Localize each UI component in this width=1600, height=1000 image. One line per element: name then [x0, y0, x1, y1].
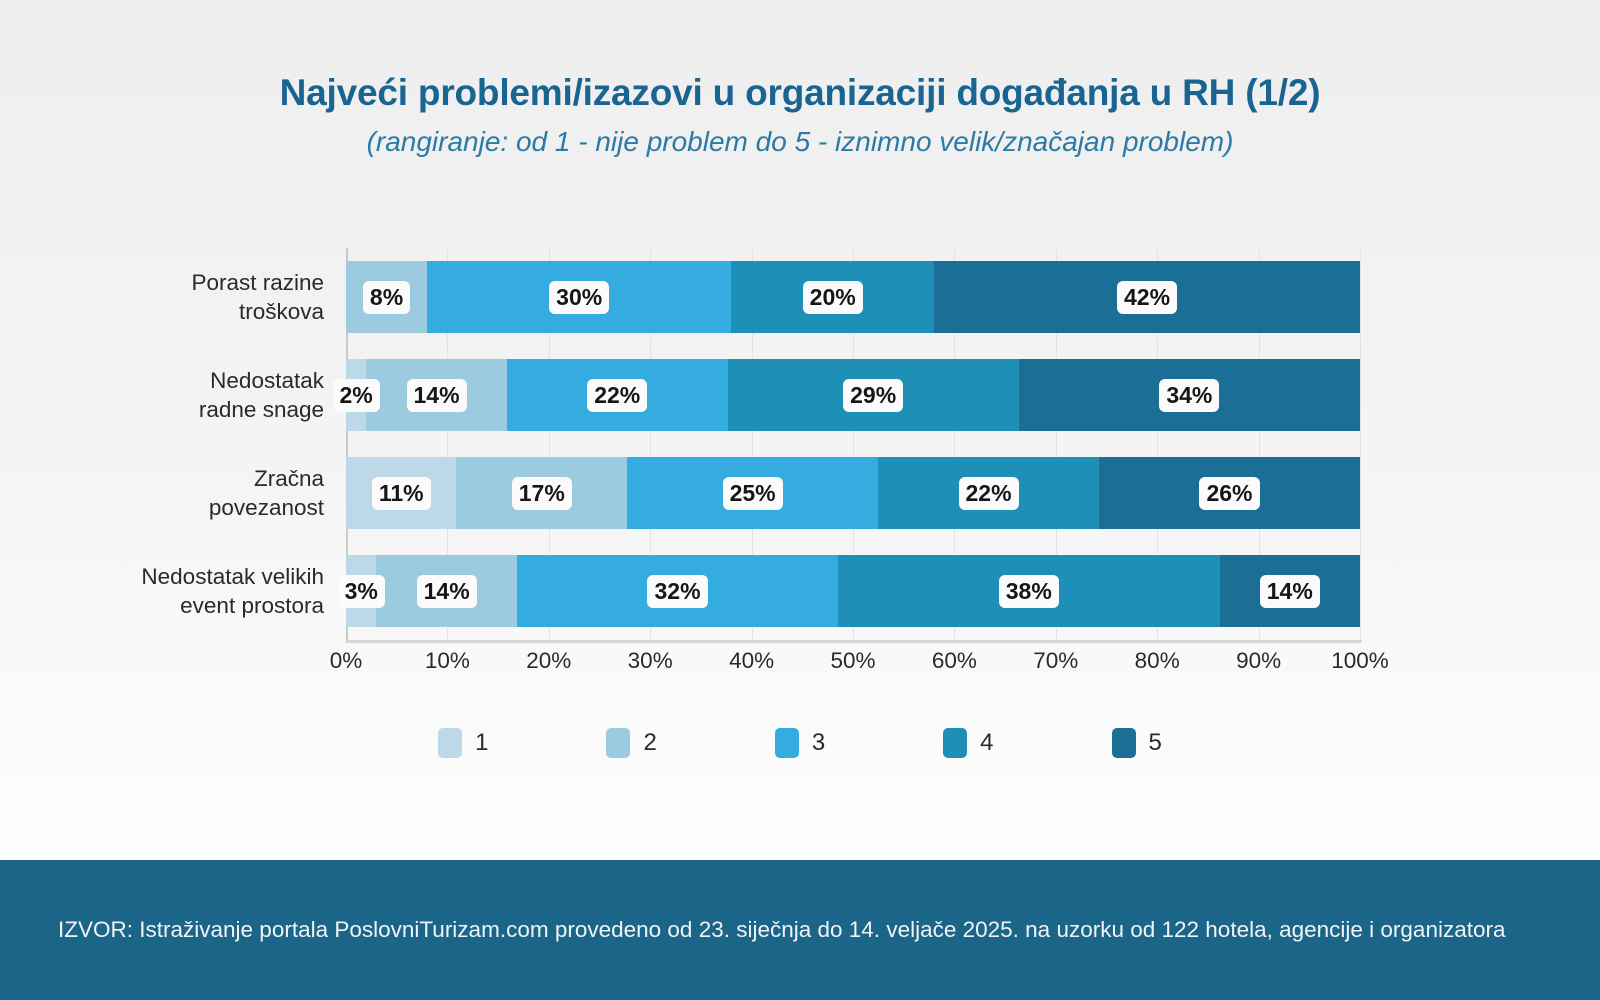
- legend-swatch-icon: [943, 728, 967, 758]
- chart-page: Najveći problemi/izazovi u organizaciji …: [0, 0, 1600, 1000]
- category-label: Porast razinetroškova: [120, 268, 346, 327]
- category-label-line: Zračna: [120, 464, 324, 493]
- bar-segment-rank-2[interactable]: 17%: [456, 457, 627, 529]
- x-tick-label: 20%: [526, 648, 571, 674]
- bar-segment-value-label: 20%: [805, 283, 861, 312]
- x-tick-label: 100%: [1331, 648, 1389, 674]
- stacked-bar: 2%14%22%29%34%: [346, 359, 1360, 431]
- bar-segment-value-label: 22%: [961, 479, 1017, 508]
- category-label-line: troškova: [120, 297, 324, 326]
- legend-item-5[interactable]: 5: [1112, 728, 1162, 758]
- x-tick-label: 40%: [729, 648, 774, 674]
- bar-segment-rank-3[interactable]: 22%: [507, 359, 728, 431]
- bar-segment-rank-5[interactable]: 42%: [934, 261, 1360, 333]
- legend-label: 4: [980, 729, 993, 757]
- legend-item-4[interactable]: 4: [943, 728, 993, 758]
- bar-segment-value-label: 11%: [374, 479, 429, 508]
- footer-bar: IZVOR: Istraživanje portala PoslovniTuri…: [0, 860, 1600, 1000]
- bar-segment-value-label: 14%: [419, 577, 475, 606]
- x-tick-label: 60%: [932, 648, 977, 674]
- bar-track: 2%14%22%29%34%: [346, 346, 1360, 444]
- bar-segment-rank-4[interactable]: 38%: [838, 555, 1219, 627]
- legend-swatch-icon: [606, 728, 630, 758]
- bar-segment-rank-3[interactable]: 30%: [427, 261, 731, 333]
- legend-item-2[interactable]: 2: [606, 728, 656, 758]
- category-label-line: radne snage: [120, 395, 324, 424]
- bar-segment-value-label: 25%: [725, 479, 781, 508]
- bar-segment-value-label: 32%: [649, 577, 705, 606]
- bar-segment-rank-3[interactable]: 32%: [517, 555, 838, 627]
- bar-segment-value-label: 3%: [340, 577, 383, 606]
- bar-segment-rank-4[interactable]: 22%: [878, 457, 1099, 529]
- chart-legend: 12345: [0, 728, 1600, 758]
- bar-track: 8%30%20%42%: [346, 248, 1360, 346]
- bar-rows: Porast razinetroškova8%30%20%42%Nedostat…: [120, 248, 1360, 640]
- category-label-line: povezanost: [120, 493, 324, 522]
- bar-segment-rank-1[interactable]: 3%: [346, 555, 376, 627]
- bar-row: Zračnapovezanost11%17%25%22%26%: [120, 444, 1360, 542]
- plot-area: Porast razinetroškova8%30%20%42%Nedostat…: [0, 248, 1600, 648]
- x-tick-label: 0%: [330, 648, 363, 674]
- bar-track: 11%17%25%22%26%: [346, 444, 1360, 542]
- bar-segment-rank-2[interactable]: 14%: [376, 555, 517, 627]
- legend-label: 3: [812, 729, 825, 757]
- stacked-bar: 8%30%20%42%: [346, 261, 1360, 333]
- x-axis-baseline: [346, 640, 1362, 643]
- bar-row: Nedostatakradne snage2%14%22%29%34%: [120, 346, 1360, 444]
- bar-track: 3%14%32%38%14%: [346, 542, 1360, 640]
- category-label-line: Nedostatak: [120, 366, 324, 395]
- legend-item-3[interactable]: 3: [775, 728, 825, 758]
- legend-label: 5: [1149, 729, 1162, 757]
- category-label-line: Nedostatak velikih: [120, 562, 324, 591]
- x-tick-label: 80%: [1135, 648, 1180, 674]
- bar-segment-rank-1[interactable]: 11%: [346, 457, 456, 529]
- x-tick-label: 50%: [830, 648, 875, 674]
- category-label: Nedostatak velikihevent prostora: [120, 562, 346, 621]
- bar-segment-value-label: 38%: [1001, 577, 1057, 606]
- bar-segment-rank-5[interactable]: 26%: [1099, 457, 1360, 529]
- legend-item-1[interactable]: 1: [438, 728, 488, 758]
- page-subtitle: (rangiranje: od 1 - nije problem do 5 - …: [0, 125, 1600, 159]
- bar-segment-value-label: 8%: [365, 283, 408, 312]
- bar-segment-rank-2[interactable]: 14%: [366, 359, 507, 431]
- bar-row: Porast razinetroškova8%30%20%42%: [120, 248, 1360, 346]
- category-label: Zračnapovezanost: [120, 464, 346, 523]
- bar-segment-value-label: 30%: [551, 283, 607, 312]
- bar-segment-rank-4[interactable]: 29%: [728, 359, 1019, 431]
- bar-segment-rank-5[interactable]: 34%: [1019, 359, 1360, 431]
- legend-label: 2: [643, 729, 656, 757]
- bar-segment-value-label: 14%: [409, 381, 465, 410]
- page-title: Najveći problemi/izazovi u organizaciji …: [0, 72, 1600, 115]
- x-axis-tick-labels: 0%10%20%30%40%50%60%70%80%90%100%: [346, 648, 1360, 688]
- bar-segment-value-label: 14%: [1262, 577, 1318, 606]
- bar-segment-value-label: 34%: [1161, 381, 1217, 410]
- x-tick-label: 70%: [1033, 648, 1078, 674]
- gridline: [1360, 248, 1361, 640]
- bar-segment-rank-2[interactable]: 8%: [346, 261, 427, 333]
- legend-swatch-icon: [1112, 728, 1136, 758]
- x-tick-label: 30%: [628, 648, 673, 674]
- title-block: Najveći problemi/izazovi u organizaciji …: [0, 72, 1600, 158]
- stacked-bar: 11%17%25%22%26%: [346, 457, 1360, 529]
- category-label-line: event prostora: [120, 591, 324, 620]
- bar-row: Nedostatak velikihevent prostora3%14%32%…: [120, 542, 1360, 640]
- bar-segment-rank-1[interactable]: 2%: [346, 359, 366, 431]
- bar-segment-value-label: 42%: [1119, 283, 1175, 312]
- legend-label: 1: [475, 729, 488, 757]
- bar-segment-rank-5[interactable]: 14%: [1220, 555, 1361, 627]
- bar-segment-rank-3[interactable]: 25%: [627, 457, 878, 529]
- bar-segment-value-label: 26%: [1201, 479, 1257, 508]
- x-tick-label: 90%: [1236, 648, 1281, 674]
- source-note: IZVOR: Istraživanje portala PoslovniTuri…: [0, 915, 1536, 944]
- bar-segment-value-label: 2%: [335, 381, 378, 410]
- category-label-line: Porast razine: [120, 268, 324, 297]
- bar-segment-value-label: 22%: [589, 381, 645, 410]
- bar-segment-value-label: 29%: [845, 381, 901, 410]
- x-tick-label: 10%: [425, 648, 470, 674]
- bar-segment-value-label: 17%: [514, 479, 570, 508]
- category-label: Nedostatakradne snage: [120, 366, 346, 425]
- legend-swatch-icon: [775, 728, 799, 758]
- legend-swatch-icon: [438, 728, 462, 758]
- stacked-bar: 3%14%32%38%14%: [346, 555, 1360, 627]
- bar-segment-rank-4[interactable]: 20%: [731, 261, 934, 333]
